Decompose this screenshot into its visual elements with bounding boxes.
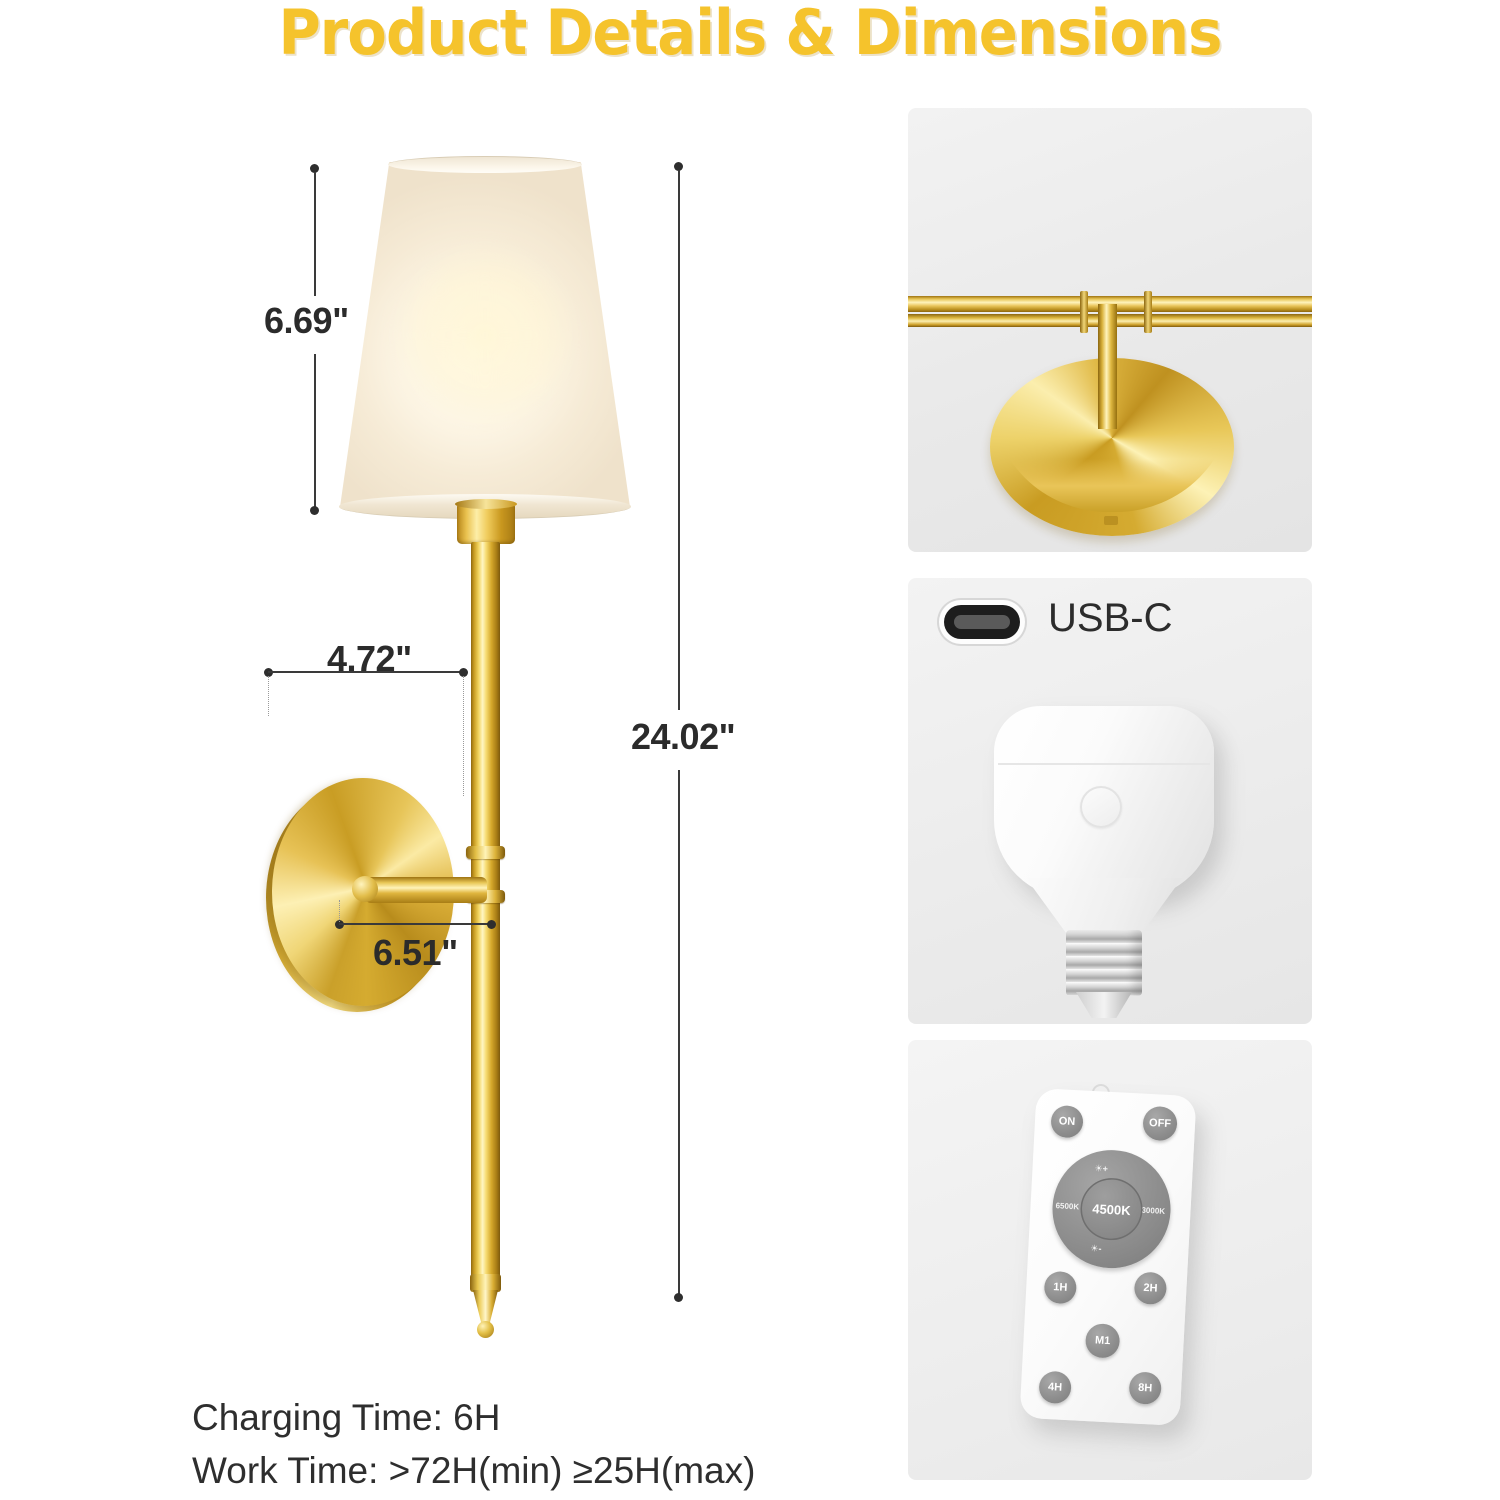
remote-timer-1h-button[interactable]: 1H [1044, 1271, 1078, 1305]
remote-timer-2h-button[interactable]: 2H [1134, 1271, 1168, 1305]
dim-plate-w-ext-left [268, 676, 269, 716]
remote-control: ON OFF ☀+ 6500K 3000K ☀- 4500K 1H 2H M1 … [1019, 1088, 1196, 1426]
mount-arm-hub [352, 876, 378, 902]
dim-total-line-lower [678, 770, 680, 1295]
shade-collar [457, 504, 515, 544]
remote-brightness-up-label[interactable]: ☀+ [1094, 1163, 1108, 1175]
mount-stem [1098, 304, 1117, 429]
dim-shade-line-upper [314, 172, 316, 296]
dim-label-plate-depth: 6.51" [373, 932, 458, 974]
dim-total-dot-bottom [674, 1293, 683, 1302]
page-title: Product Details & Dimensions [53, 0, 1448, 69]
usb-c-label: USB-C [1048, 596, 1172, 641]
remote-timer-8h-button[interactable]: 8H [1128, 1371, 1162, 1405]
charging-time-text: Charging Time: 6H [192, 1392, 755, 1445]
dim-plate-w-ext-right [463, 676, 464, 796]
mount-disc-notch-icon [1104, 516, 1118, 525]
dim-label-shade-height: 6.69" [264, 300, 349, 342]
rail-clip-left [1080, 291, 1088, 333]
remote-memory-button[interactable]: M1 [1085, 1323, 1121, 1359]
panel-wall-mount [908, 108, 1312, 552]
bulb-base-tip [1076, 992, 1132, 1018]
dim-plate-d-ext-left [339, 900, 342, 922]
rod-ring-upper [466, 846, 505, 859]
mount-arm [365, 877, 487, 903]
finial-neck [470, 1274, 501, 1292]
bulb-screw-base [1066, 930, 1142, 996]
rail-clip-right [1144, 291, 1152, 333]
work-time-text: Work Time: >72H(min) ≥25H(max) [192, 1445, 755, 1498]
bulb-taper [1026, 878, 1182, 938]
lampshade-glow-icon [390, 240, 580, 430]
dim-label-plate-width: 4.72" [327, 638, 412, 680]
dim-total-line-upper [678, 170, 680, 710]
shade-collar-cap [455, 499, 517, 509]
dim-label-total-height: 24.02" [631, 716, 735, 758]
lampshade-top-rim [388, 156, 582, 173]
remote-on-button[interactable]: ON [1050, 1105, 1084, 1139]
lamp-rod [471, 542, 500, 1282]
panel-remote: ON OFF ☀+ 6500K 3000K ☀- 4500K 1H 2H M1 … [908, 1040, 1312, 1480]
dim-shade-line-lower [314, 354, 316, 508]
infographic-canvas: Product Details & Dimensions 6.69" 24.02… [0, 0, 1500, 1500]
dim-plate-d-line [339, 923, 491, 925]
remote-brightness-down-label[interactable]: ☀- [1090, 1243, 1102, 1255]
dim-plate-w-line [268, 671, 463, 673]
panel-bulb: USB-C [908, 578, 1312, 1024]
dim-shade-dot-bottom [310, 506, 319, 515]
remote-off-button[interactable]: OFF [1142, 1106, 1178, 1142]
usb-c-icon [944, 605, 1020, 639]
remote-cct-3000k-label[interactable]: 3000K [1141, 1206, 1165, 1216]
remote-cct-6500k-label[interactable]: 6500K [1055, 1201, 1079, 1211]
finial-ball [477, 1321, 494, 1338]
remote-timer-4h-button[interactable]: 4H [1038, 1371, 1072, 1405]
dim-plate-d-dot-right [487, 920, 496, 929]
bulb-seam [998, 763, 1210, 765]
bulb-power-button-icon [1080, 786, 1122, 828]
spec-text-block: Charging Time: 6H Work Time: >72H(min) ≥… [192, 1392, 755, 1497]
